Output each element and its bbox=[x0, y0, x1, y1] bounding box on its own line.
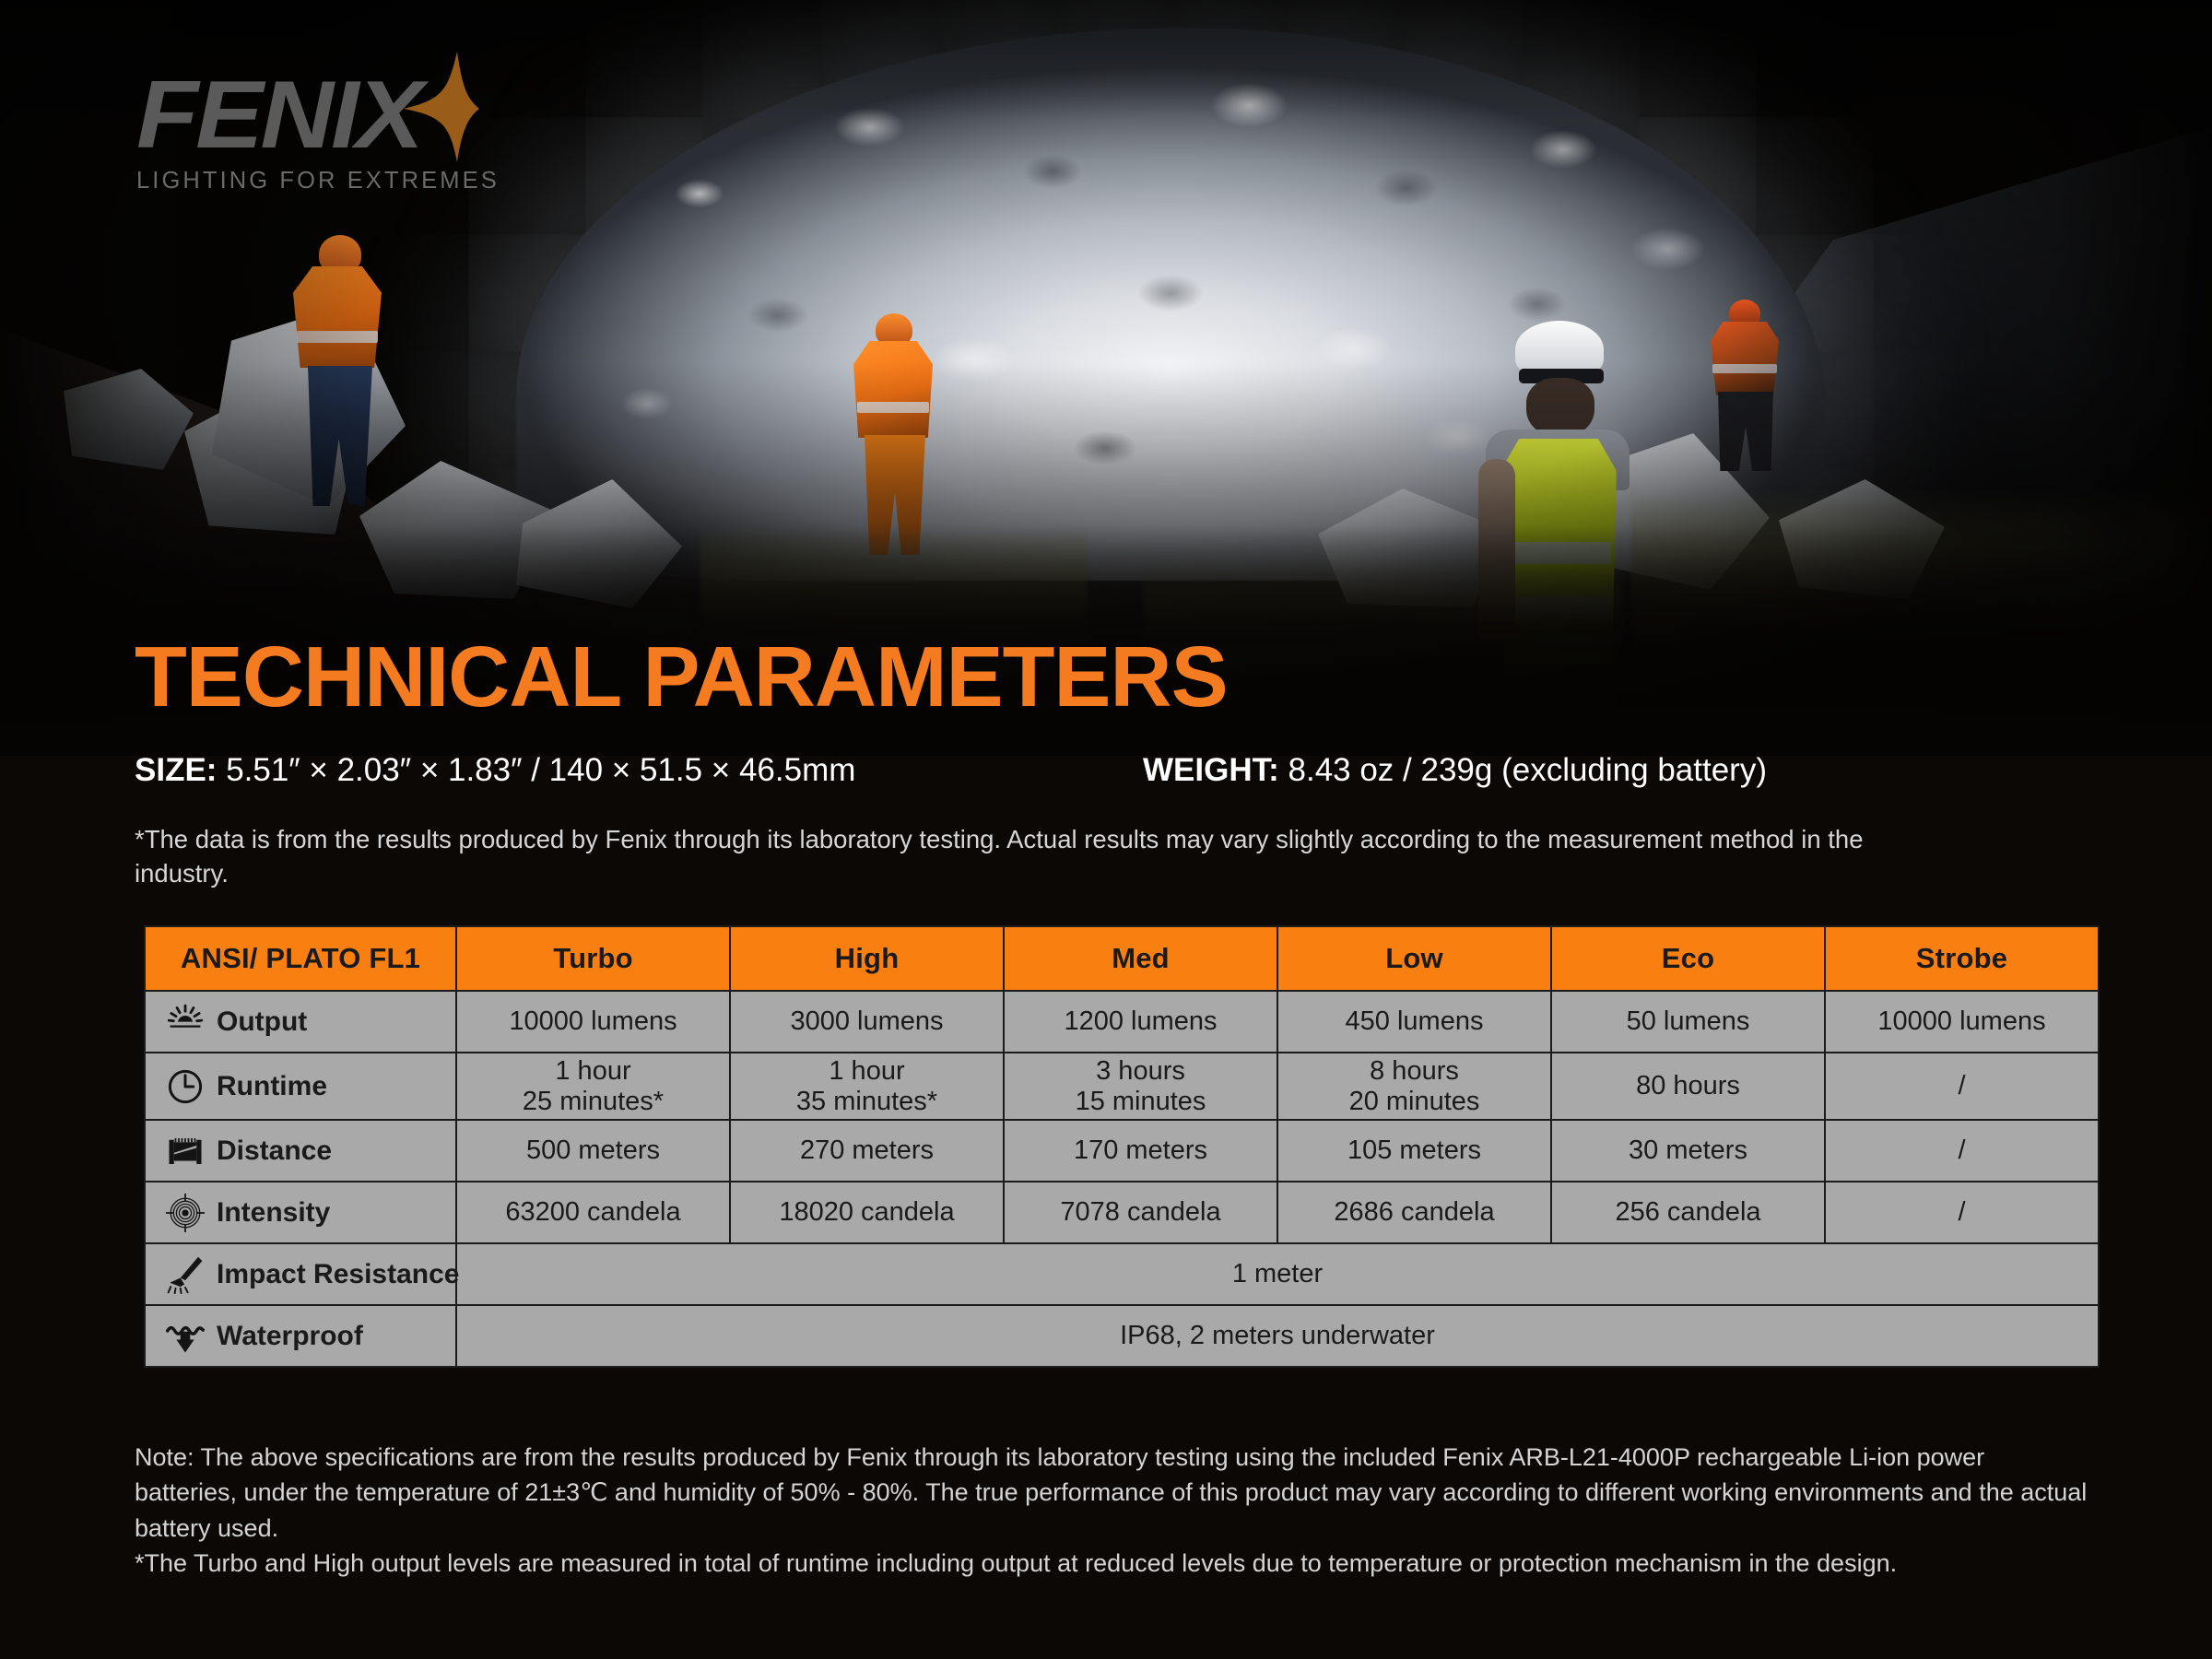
table-cell: 10000 lumens bbox=[1825, 991, 2099, 1053]
size-value: 5.51″ × 2.03″ × 1.83″ / 140 × 51.5 × 46.… bbox=[226, 752, 855, 788]
table-row: Runtime1 hour25 minutes*1 hour35 minutes… bbox=[145, 1053, 2099, 1120]
worker-torso bbox=[293, 266, 382, 368]
table-cell: 3000 lumens bbox=[730, 991, 1004, 1053]
table-cell: 80 hours bbox=[1551, 1053, 1825, 1120]
table-cell: 30 meters bbox=[1551, 1120, 1825, 1182]
table-cell: 7078 candela bbox=[1004, 1182, 1277, 1243]
table-row: Output10000 lumens3000 lumens1200 lumens… bbox=[145, 991, 2099, 1053]
page-title: TECHNICAL PARAMETERS bbox=[135, 634, 1228, 720]
table-cell: 105 meters bbox=[1277, 1120, 1551, 1182]
table-cell: 8 hours20 minutes bbox=[1277, 1053, 1551, 1120]
table-row: Intensity63200 candela18020 candela7078 … bbox=[145, 1182, 2099, 1243]
table-cell: 1 hour25 minutes* bbox=[456, 1053, 730, 1120]
footnote-line-1: Note: The above specifications are from … bbox=[135, 1440, 2088, 1546]
table-cell: 270 meters bbox=[730, 1120, 1004, 1182]
table-row: WaterproofIP68, 2 meters underwater bbox=[145, 1305, 2099, 1367]
weight-label: WEIGHT: bbox=[1143, 752, 1279, 788]
beam-distance-icon bbox=[166, 1132, 205, 1171]
table-header-cell: ANSI/ PLATO FL1 bbox=[145, 926, 456, 991]
technical-parameters-page: FENIX LIGHTING FOR EXTREMES TECHNICAL PA… bbox=[0, 0, 2212, 1659]
waterproof-drop-icon bbox=[166, 1317, 205, 1356]
fenix-wordmark: FENIX bbox=[136, 72, 508, 160]
row-label: Waterproof bbox=[217, 1321, 363, 1352]
row-label: Intensity bbox=[217, 1197, 330, 1229]
table-cell: 256 candela bbox=[1551, 1182, 1825, 1243]
worker-torso bbox=[853, 341, 933, 438]
table-header-cell: Eco bbox=[1551, 926, 1825, 991]
table-cell: 18020 candela bbox=[730, 1182, 1004, 1243]
sunburst-icon bbox=[166, 1003, 205, 1041]
worker-reflective-band bbox=[1712, 364, 1777, 373]
table-header-row: ANSI/ PLATO FL1 Turbo High Med Low Eco S… bbox=[145, 926, 2099, 991]
table-header-cell: Low bbox=[1277, 926, 1551, 991]
worker-reflective-band bbox=[857, 402, 929, 413]
weight-value: 8.43 oz / 239g (excluding battery) bbox=[1288, 752, 1767, 788]
table-cell: 10000 lumens bbox=[456, 991, 730, 1053]
table-cell: 170 meters bbox=[1004, 1120, 1277, 1182]
target-intensity-icon bbox=[166, 1194, 205, 1232]
table-cell: 450 lumens bbox=[1277, 991, 1551, 1053]
table-header-cell: High bbox=[730, 926, 1004, 991]
table-cell-spanned: IP68, 2 meters underwater bbox=[456, 1305, 2099, 1367]
worker-torso bbox=[1711, 322, 1779, 395]
impact-hammer-icon bbox=[166, 1255, 205, 1294]
table-row-header: Intensity bbox=[145, 1182, 456, 1243]
photo-worker-far-right bbox=[1696, 300, 1797, 475]
table-row-header: Output bbox=[145, 991, 456, 1053]
worker-reflective-band bbox=[297, 331, 378, 343]
table-cell-spanned: 1 meter bbox=[456, 1243, 2099, 1305]
table-row-header: Impact Resistance bbox=[145, 1243, 456, 1305]
row-label: Distance bbox=[217, 1135, 332, 1167]
clock-icon bbox=[166, 1067, 205, 1106]
table-cell: / bbox=[1825, 1120, 2099, 1182]
footnote-block: Note: The above specifications are from … bbox=[135, 1440, 2088, 1581]
table-row: Impact Resistance1 meter bbox=[145, 1243, 2099, 1305]
worker-head bbox=[1526, 378, 1594, 437]
worker-legs bbox=[1718, 392, 1773, 471]
table-cell: 2686 candela bbox=[1277, 1182, 1551, 1243]
table-cell: 3 hours15 minutes bbox=[1004, 1053, 1277, 1120]
table-cell: / bbox=[1825, 1053, 2099, 1120]
disclaimer-text: *The data is from the results produced b… bbox=[135, 822, 1886, 891]
photo-worker-left bbox=[276, 235, 406, 512]
table-cell: 1200 lumens bbox=[1004, 991, 1277, 1053]
specs-table: ANSI/ PLATO FL1 Turbo High Med Low Eco S… bbox=[144, 925, 2100, 1368]
table-header-cell: Turbo bbox=[456, 926, 730, 991]
worker-legs bbox=[308, 366, 372, 506]
table-body: Output10000 lumens3000 lumens1200 lumens… bbox=[145, 991, 2099, 1367]
table-cell: 63200 candela bbox=[456, 1182, 730, 1243]
table-header-cell: Strobe bbox=[1825, 926, 2099, 991]
row-label: Output bbox=[217, 1006, 307, 1038]
table-header-cell: Med bbox=[1004, 926, 1277, 991]
table-row-header: Distance bbox=[145, 1120, 456, 1182]
size-spec: SIZE: 5.51″ × 2.03″ × 1.83″ / 140 × 51.5… bbox=[135, 752, 855, 789]
row-label: Runtime bbox=[217, 1071, 327, 1102]
table-cell: / bbox=[1825, 1182, 2099, 1243]
table-row-header: Runtime bbox=[145, 1053, 456, 1120]
table-row-header: Waterproof bbox=[145, 1305, 456, 1367]
fenix-logo: FENIX LIGHTING FOR EXTREMES bbox=[136, 72, 487, 194]
table-cell: 1 hour35 minutes* bbox=[730, 1053, 1004, 1120]
table-row: Distance500 meters270 meters170 meters10… bbox=[145, 1120, 2099, 1182]
weight-spec: WEIGHT: 8.43 oz / 239g (excluding batter… bbox=[1143, 752, 1767, 789]
row-label: Impact Resistance bbox=[217, 1259, 459, 1290]
footnote-line-2: *The Turbo and High output levels are me… bbox=[135, 1546, 2088, 1581]
size-label: SIZE: bbox=[135, 752, 217, 788]
table-cell: 50 lumens bbox=[1551, 991, 1825, 1053]
fenix-tagline: LIGHTING FOR EXTREMES bbox=[136, 168, 487, 194]
table-cell: 500 meters bbox=[456, 1120, 730, 1182]
